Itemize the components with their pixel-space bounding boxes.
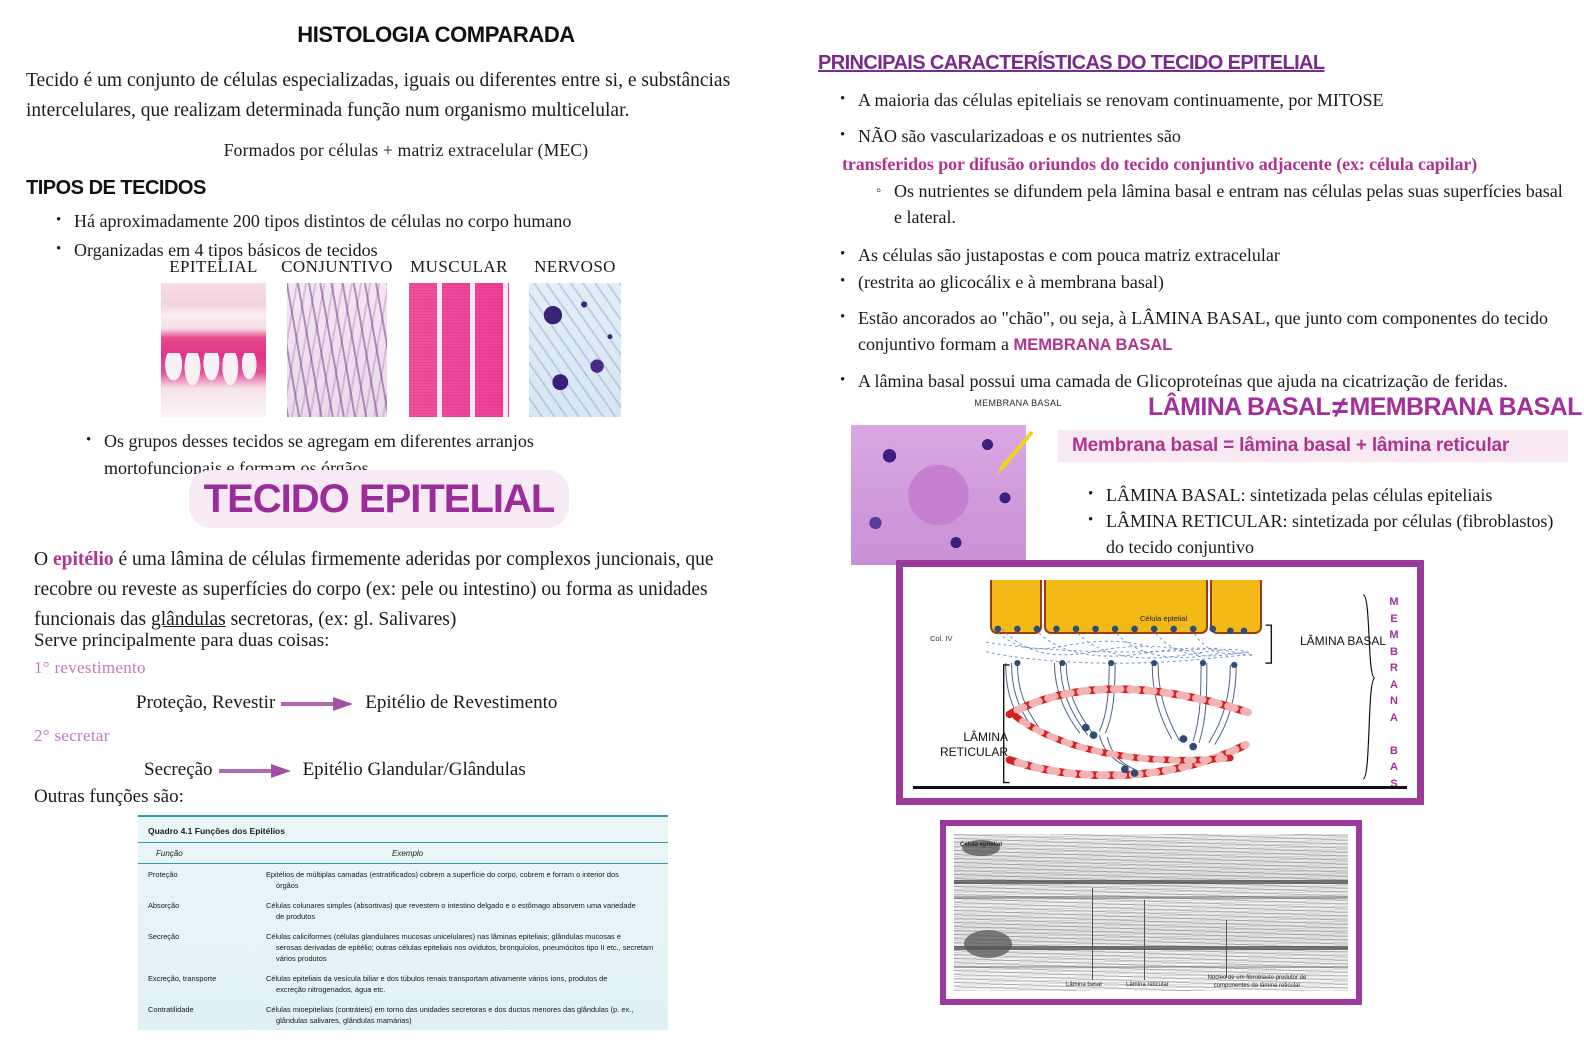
second-function-arrow-row: Secreção Epitélio Glandular/Glândulas [144,759,526,781]
section-heading-tipos: TIPOS DE TECIDOS [26,177,786,200]
list-item: As células são justapostas e com pouca m… [840,242,1563,268]
neq-left-term: LÂMINA BASAL [1148,393,1330,421]
second-function-label: 2° secretar [34,726,110,746]
diagram-lamina-reticular-label: LÂMINA RETICULAR [930,730,1008,760]
cell-exemplo: Células mioepiteliais (contráteis) em to… [266,1004,660,1026]
cell-funcao: Absorção [138,900,266,922]
right-section-title: PRINCIPAIS CARACTERÍSTICAS DO TECIDO EPI… [818,52,1563,75]
cell-funcao: Secreção [138,931,266,964]
cell-exemplo-line1: Células mioepiteliais (contráteis) em to… [266,1005,633,1014]
micrograph-cell-label: Célula epitelial [960,842,1002,848]
diagram-lamina-basal-label: LÂMINA BASAL [1300,634,1386,649]
outras-funcoes-line: Outras funções são: [34,786,184,808]
epitelio-text-c: secretoras, (ex: gl. Salivares) [226,609,457,630]
cell-funcao: Contratilidade [138,1004,266,1026]
membrana-basal-caption: MEMBRANA BASAL [958,398,1078,409]
cell-exemplo-line2: órgãos [266,880,660,891]
list-item: NÃO são vascularizadoas e os nutrientes … [840,123,1563,176]
cell-exemplo-line2: excreção nitrogenados, água etc. [266,984,660,995]
epitelio-paragraph: O epitélio é uma lâmina de células firme… [34,545,744,635]
muscular-micrograph [409,283,509,417]
cell-exemplo: Células caliciformes (células glandulare… [266,931,660,964]
mec-note: Formados por células + matriz extracelul… [26,140,786,161]
glandulas-keyword: glândulas [151,609,226,630]
tecido-epitelial-banner: TECIDO EPITELIAL [189,470,569,528]
list-item: A maioria das células epiteliais se reno… [840,87,1563,113]
leader-line [1226,920,1227,978]
electron-micrograph-image: Célula epitelial Lâmina basal Lâmina ret… [954,834,1348,991]
not-equal-icon: ≠ [1330,392,1349,424]
tissue-epitelial: EPITELIAL [161,283,266,417]
micrograph-fibroblast-label: Núcleo de um fibroblasto produtor de com… [1192,974,1322,990]
epitelio-keyword: epitélio [53,549,114,570]
notes-page: HISTOLOGIA COMPARADA Tecido é um conjunt… [0,0,1584,1056]
list-item-text: Estão ancorados ao "chão", ou seja, à LÂ… [858,308,1548,354]
table-title: Quadro 4.1 Funções dos Epitélios [138,817,668,843]
table-row: Contratilidade Células mioepiteliais (co… [138,999,668,1030]
cell-exemplo-line1: Células caliciformes (células glandulare… [266,932,621,941]
tissue-label: MUSCULAR [410,257,508,277]
emphasis-text: transferidos por difusão oriundos do tec… [842,152,1563,176]
cell-funcao: Proteção [138,869,266,891]
tissue-image-strip: EPITELIAL CONJUNTIVO MUSCULAR NERVOSO [161,255,641,420]
lamina-vs-membrana-heading: LÂMINA BASAL≠MEMBRANA BASAL [1148,390,1568,423]
first-function-label: 1° revestimento [34,658,146,678]
epitelial-micrograph [161,283,266,417]
tissue-label: NERVOSO [534,257,616,277]
caracteristicas-bullet-list-2: As células são justapostas e com pouca m… [818,242,1563,394]
cell-exemplo: Células colunares simples (absortivas) q… [266,900,660,922]
list-item-text: NÃO são vascularizadoas e os nutrientes … [858,126,1181,146]
tissue-label: EPITELIAL [169,257,258,277]
list-item: Há aproximadamente 200 tipos distintos d… [56,208,786,235]
list-item: Estão ancorados ao "chão", ou seja, à LÂ… [840,305,1563,358]
equation-text: Membrana basal = lâmina basal + lâmina r… [1058,435,1509,457]
cell-exemplo-line2: serosas derivadas de epitélio; outras cé… [266,942,660,964]
basal-membrane-diagram-box: Célula eptelial Col. IV [896,560,1424,805]
electron-micrograph-box: Célula epitelial Lâmina basal Lâmina ret… [940,820,1362,1005]
page-title: HISTOLOGIA COMPARADA [26,22,786,48]
list-item: (restrita ao glicocálix e à membrana bas… [840,269,1563,295]
arrow-right-icon [219,764,297,776]
equation-highlight-box: Membrana basal = lâmina basal + lâmina r… [1058,430,1568,462]
tissue-label: CONJUNTIVO [281,257,393,277]
list-item: LÂMINA BASAL: sintetizada pelas células … [1088,482,1558,508]
neq-right-term: MEMBRANA BASAL [1349,393,1581,421]
column-header-funcao: Função [138,849,274,858]
micrograph-basal-label: Lâmina basal [1066,982,1102,988]
tissue-nervoso: NERVOSO [529,283,621,417]
tissue-muscular: MUSCULAR [409,283,509,417]
diagram-canvas: Célula eptelial Col. IV [908,572,1412,793]
cell-exemplo: Células epiteliais da vesícula biliar e … [266,973,660,995]
cell-exemplo-line1: Células epiteliais da vesícula biliar e … [266,974,607,983]
second-function-to: Epitélio Glandular/Glândulas [303,759,526,781]
first-function-to: Epitélio de Revestimento [365,692,557,714]
quadro-funcoes-epitelios: Quadro 4.1 Funções dos Epitélios Função … [138,815,668,1030]
table-row: Secreção Células caliciformes (células g… [138,926,668,968]
table-header-row: Função Exemplo [138,843,668,864]
column-header-exemplo: Exemplo [274,849,668,858]
diagram-lamina-basal-text: LÂMINA BASAL [1300,634,1386,648]
table-row: Excreção, transporte Células epiteliais … [138,968,668,999]
diagram-membrana-basal-vertical-label: MEMBRANA BASAL [1386,594,1402,793]
arrow-right-icon [281,697,359,709]
cell-exemplo-line2: de produtos [266,911,660,922]
conjuntivo-micrograph [287,283,387,417]
cell-exemplo-line1: Epitélios de múltiplas camadas (estratif… [266,870,619,879]
caracteristicas-bullet-list: A maioria das células epiteliais se reno… [818,87,1563,176]
cell-exemplo-line2: glândulas salivares, glândulas mamárias) [266,1015,660,1026]
yellow-arrow-icon [986,428,1038,480]
sub-list-item: Os nutrientes se difundem pela lâmina ba… [876,178,1563,230]
cell-exemplo: Epitélios de múltiplas camadas (estratif… [266,869,660,891]
first-function-from: Proteção, Revestir [136,692,275,714]
nervoso-micrograph [529,283,621,417]
sub-bullet-list: Os nutrientes se difundem pela lâmina ba… [876,178,1563,230]
micrograph-reticular-label: Lâmina reticular [1126,982,1169,988]
diagram-lamina-reticular-text: LÂMINA RETICULAR [940,730,1008,759]
diagram-bottom-rule [913,786,1407,789]
banner-label: TECIDO EPITELIAL [204,477,555,522]
first-function-arrow-row: Proteção, Revestir Epitélio de Revestime… [136,692,557,714]
leader-line [1092,888,1093,980]
second-function-from: Secreção [144,759,213,781]
cell-exemplo-line1: Células colunares simples (absortivas) q… [266,901,636,910]
tissue-conjuntivo: CONJUNTIVO [287,283,387,417]
table-row: Proteção Epitélios de múltiplas camadas … [138,864,668,895]
lamina-definition-list: LÂMINA BASAL: sintetizada pelas células … [1088,482,1558,560]
leader-line [1144,900,1145,980]
epitelio-text-a: O [34,549,53,570]
intro-paragraph: Tecido é um conjunto de células especial… [26,66,786,126]
serve-line: Serve principalmente para duas coisas: [34,630,329,652]
table-row: Absorção Células colunares simples (abso… [138,895,668,926]
list-item: LÂMINA RETICULAR: sintetizada por célula… [1088,508,1558,560]
right-column: PRINCIPAIS CARACTERÍSTICAS DO TECIDO EPI… [818,0,1563,1056]
membrana-basal-keyword: MEMBRANA BASAL [1013,336,1172,354]
cell-funcao: Excreção, transporte [138,973,266,995]
